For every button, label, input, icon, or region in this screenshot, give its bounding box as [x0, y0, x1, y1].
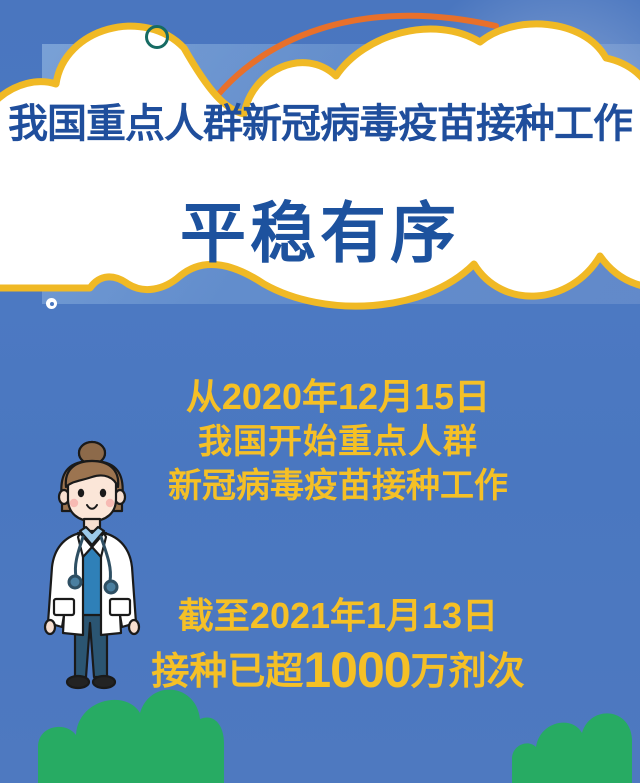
body-line-start-date: 从2020年12月15日 [36, 377, 640, 417]
hand-left [45, 620, 55, 634]
infographic-poster: 我国重点人群新冠病毒疫苗接种工作 平稳有序 从2020年12月15日 我国开始重… [0, 0, 640, 783]
pocket-left [54, 599, 74, 615]
bush-right [512, 713, 632, 783]
ring-decoration-icon [145, 25, 169, 49]
cloud-banner [0, 0, 640, 328]
dot-decoration-icon [46, 298, 57, 309]
eye-right [100, 489, 106, 497]
pocket-right [110, 599, 130, 615]
cheek-left [70, 499, 78, 507]
bush-left [38, 690, 224, 783]
hand-right [129, 620, 139, 634]
page-title: 我国重点人群新冠病毒疫苗接种工作 [0, 104, 640, 144]
eye-left [78, 489, 84, 497]
page-subtitle: 平稳有序 [0, 200, 640, 266]
bush-decorations [0, 663, 640, 783]
cheek-right [106, 499, 114, 507]
